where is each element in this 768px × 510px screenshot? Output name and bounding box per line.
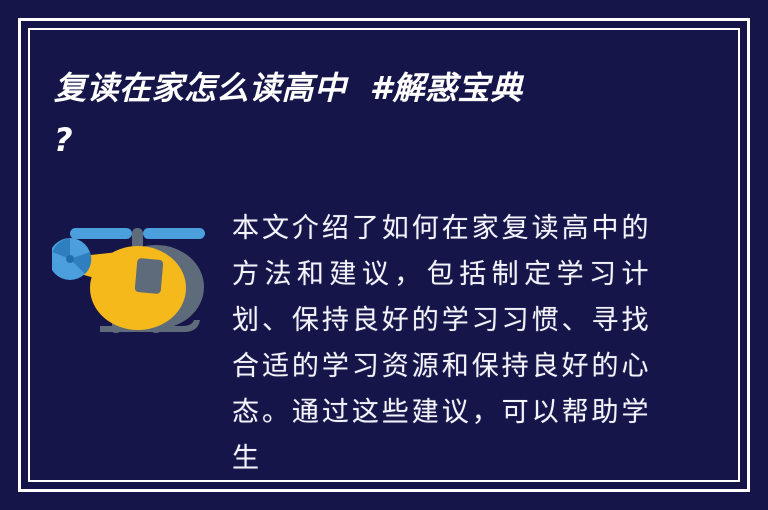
title-line-primary: 复读在家怎么读高中 #解惑宝典 [54, 62, 694, 114]
page-title: 复读在家怎么读高中 #解惑宝典 ? [54, 62, 694, 166]
article-paragraph: 本文介绍了如何在家复读高中的方法和建议，包括制定学习计划、保持良好的学习习惯、寻… [232, 206, 650, 482]
helicopter-icon [52, 212, 222, 352]
article-card: 复读在家怎么读高中 #解惑宝典 ? [0, 0, 768, 510]
title-line-secondary: ? [54, 114, 694, 166]
article-body: 本文介绍了如何在家复读高中的方法和建议，包括制定学习计划、保持良好的学习习惯、寻… [232, 206, 650, 482]
helicopter-window [135, 258, 164, 294]
